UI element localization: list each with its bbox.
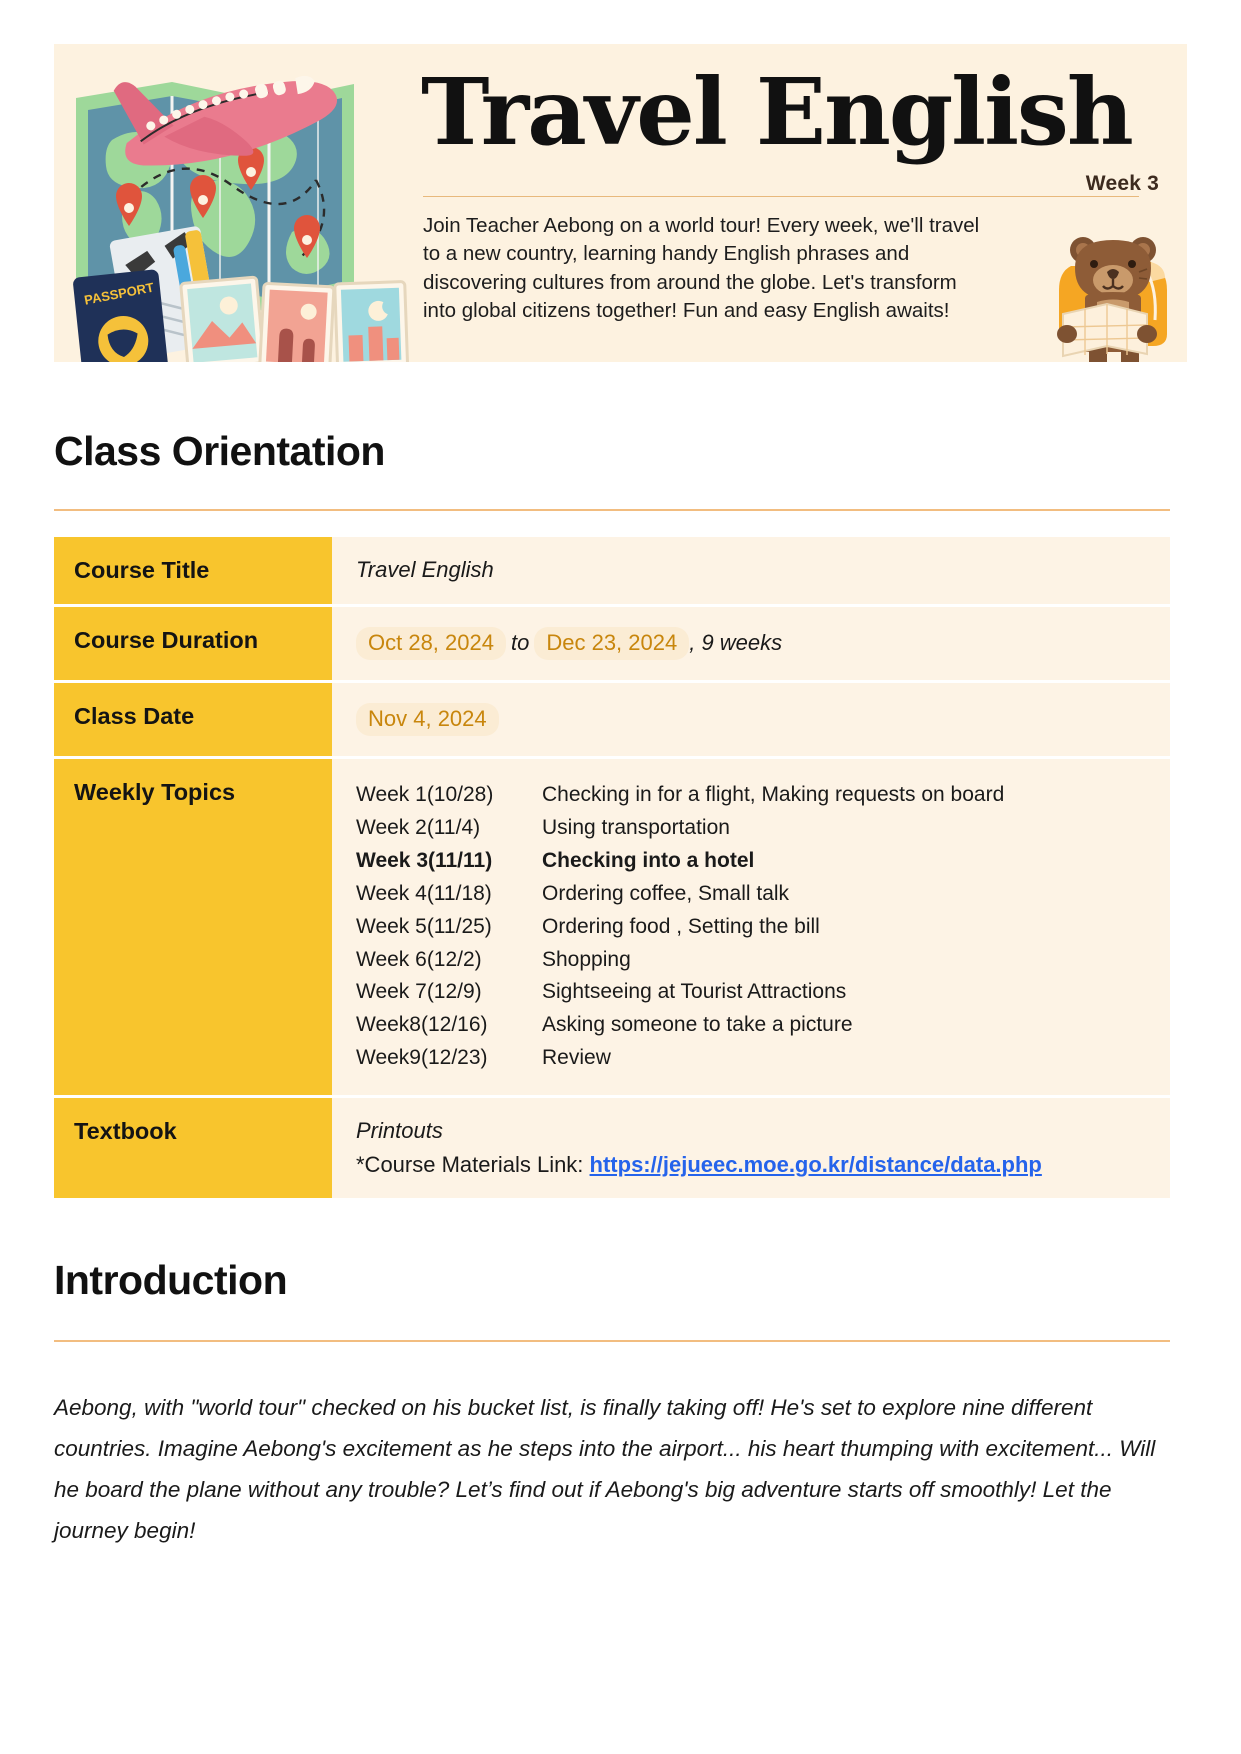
course-materials-link[interactable]: https://jejueec.moe.go.kr/distance/data.… <box>590 1152 1042 1177</box>
weekly-topic-week: Week 5(11/25) <box>356 911 542 944</box>
table-row-class-date: Class Date Nov 4, 2024 <box>54 683 1170 756</box>
weekly-topics-list: Week 1(10/28)Checking in for a flight, M… <box>356 779 1004 1075</box>
weekly-topic-row: Week 7(12/9)Sightseeing at Tourist Attra… <box>356 976 1004 1009</box>
weekly-topic-title: Checking in for a flight, Making request… <box>542 779 1004 812</box>
textbook-value: Printouts <box>356 1118 1152 1144</box>
row-label-class-date: Class Date <box>54 683 332 756</box>
weekly-topic-week: Week8(12/16) <box>356 1009 542 1042</box>
introduction-divider <box>54 1340 1170 1342</box>
weekly-topic-row: Week 3(11/11)Checking into a hotel <box>356 845 1004 878</box>
weekly-topic-title: Ordering food , Setting the bill <box>542 911 1004 944</box>
weekly-topic-row: Week 6(12/2)Shopping <box>356 944 1004 977</box>
weekly-topic-row: Week 2(11/4)Using transportation <box>356 812 1004 845</box>
weekly-topic-row: Week 1(10/28)Checking in for a flight, M… <box>356 779 1004 812</box>
table-row-course-duration: Course Duration Oct 28, 2024toDec 23, 20… <box>54 607 1170 680</box>
weekly-topic-row: Week9(12/23)Review <box>356 1042 1004 1075</box>
class-orientation-heading: Class Orientation <box>54 428 385 475</box>
weekly-topic-row: Week 4(11/18)Ordering coffee, Small talk <box>356 878 1004 911</box>
class-orientation-divider <box>54 509 1170 511</box>
weekly-topic-week: Week 3(11/11) <box>356 845 542 878</box>
row-value-course-duration: Oct 28, 2024toDec 23, 2024, 9 weeks <box>332 607 1170 680</box>
page-title: Travel English <box>421 66 1141 158</box>
introduction-body: Aebong, with "world tour" checked on his… <box>54 1388 1174 1552</box>
course-materials-line: *Course Materials Link: https://jejueec.… <box>356 1152 1152 1178</box>
weekly-topic-title: Asking someone to take a picture <box>542 1009 1004 1042</box>
table-row-course-title: Course Title Travel English <box>54 537 1170 604</box>
title-divider <box>423 196 1139 197</box>
banner-title-block: Travel English Week 3 Join Teacher Aebon… <box>409 44 1187 362</box>
row-label-weekly-topics: Weekly Topics <box>54 759 332 1095</box>
row-value-class-date: Nov 4, 2024 <box>332 683 1170 756</box>
weekly-topic-week: Week 4(11/18) <box>356 878 542 911</box>
weekly-topic-week: Week9(12/23) <box>356 1042 542 1075</box>
bear-mascot-icon <box>1047 222 1179 362</box>
weekly-topic-row: Week8(12/16)Asking someone to take a pic… <box>356 1009 1004 1042</box>
weekly-topic-week: Week 1(10/28) <box>356 779 542 812</box>
weekly-topic-title: Using transportation <box>542 812 1004 845</box>
banner-description: Join Teacher Aebong on a world tour! Eve… <box>423 212 983 325</box>
end-date-chip[interactable]: Dec 23, 2024 <box>534 627 689 660</box>
orientation-table: Course Title Travel English Course Durat… <box>54 534 1170 1201</box>
duration-weeks-text: , 9 weeks <box>689 630 782 655</box>
row-value-course-title: Travel English <box>332 537 1170 604</box>
weekly-topic-week: Week 2(11/4) <box>356 812 542 845</box>
week-badge: Week 3 <box>1086 172 1159 196</box>
weekly-topic-row: Week 5(11/25)Ordering food , Setting the… <box>356 911 1004 944</box>
weekly-topic-title: Checking into a hotel <box>542 845 1004 878</box>
weekly-topic-title: Ordering coffee, Small talk <box>542 878 1004 911</box>
course-title-value: Travel English <box>356 557 494 582</box>
weekly-topic-title: Shopping <box>542 944 1004 977</box>
row-label-textbook: Textbook <box>54 1098 332 1198</box>
weekly-topic-week: Week 6(12/2) <box>356 944 542 977</box>
row-label-course-duration: Course Duration <box>54 607 332 680</box>
row-value-textbook: Printouts *Course Materials Link: https:… <box>332 1098 1170 1198</box>
weekly-topic-week: Week 7(12/9) <box>356 976 542 1009</box>
introduction-heading: Introduction <box>54 1257 287 1304</box>
class-date-chip[interactable]: Nov 4, 2024 <box>356 703 499 736</box>
duration-to-word: to <box>506 630 534 655</box>
row-label-course-title: Course Title <box>54 537 332 604</box>
travel-collage-illustration: PASSPORT <box>54 44 409 362</box>
weekly-topic-title: Sightseeing at Tourist Attractions <box>542 976 1004 1009</box>
weekly-topic-title: Review <box>542 1042 1004 1075</box>
row-value-weekly-topics: Week 1(10/28)Checking in for a flight, M… <box>332 759 1170 1095</box>
start-date-chip[interactable]: Oct 28, 2024 <box>356 627 506 660</box>
header-banner: PASSPORT <box>54 44 1187 362</box>
table-row-textbook: Textbook Printouts *Course Materials Lin… <box>54 1098 1170 1198</box>
table-row-weekly-topics: Weekly Topics Week 1(10/28)Checking in f… <box>54 759 1170 1095</box>
materials-label: *Course Materials Link: <box>356 1152 590 1177</box>
